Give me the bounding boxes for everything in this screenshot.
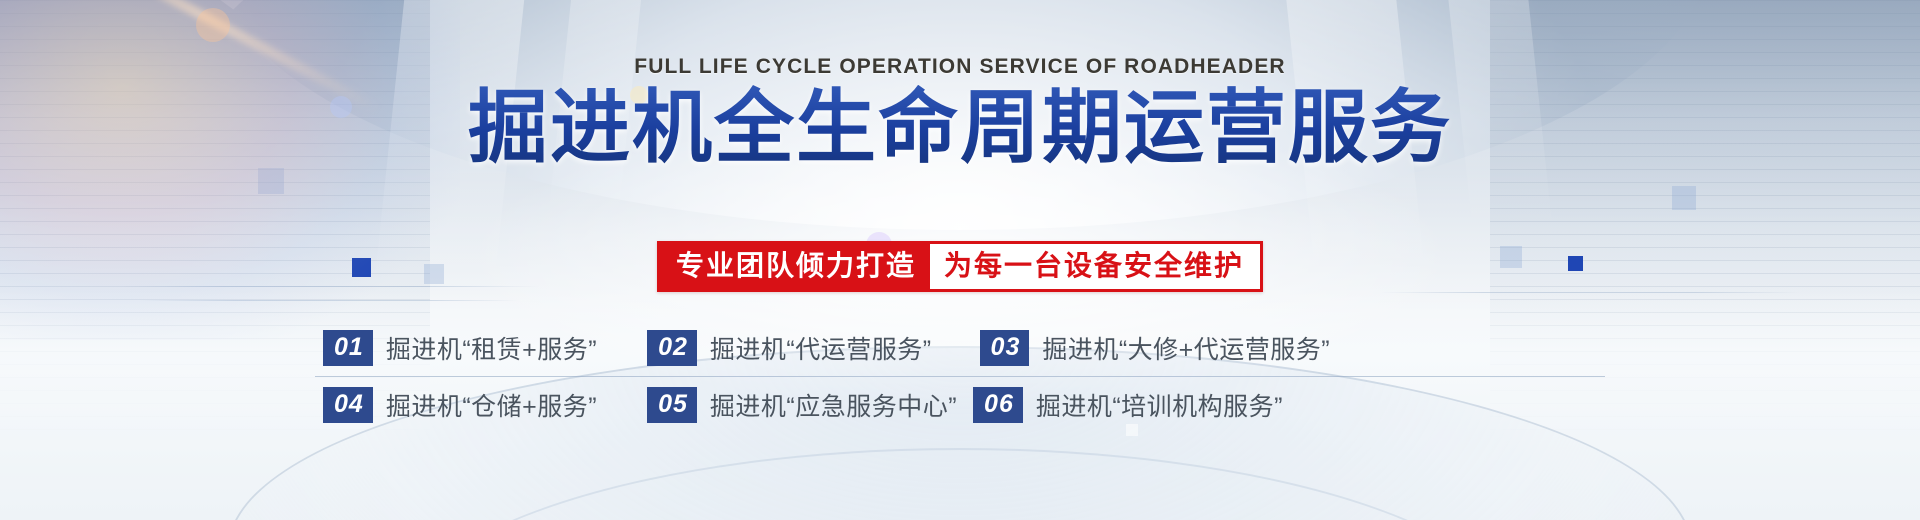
banner-content: FULL LIFE CYCLE OPERATION SERVICE OF ROA…: [0, 0, 1920, 520]
service-number-badge: 02: [647, 330, 697, 366]
service-number-badge: 05: [647, 387, 697, 423]
slogan-bar: 专业团队倾力打造 为每一台设备安全维护: [657, 241, 1263, 292]
service-label: 掘进机“大修+代运营服务”: [1042, 330, 1330, 366]
service-item-03[interactable]: 03 掘进机“大修+代运营服务”: [980, 330, 1331, 366]
service-label: 掘进机“代运营服务”: [710, 330, 932, 366]
service-row-bottom: 04 掘进机“仓储+服务” 05 掘进机“应急服务中心” 06 掘进机“培训机构…: [315, 377, 1605, 433]
banner-headline: 掘进机全生命周期运营服务: [468, 85, 1452, 171]
service-list: 01 掘进机“租赁+服务” 02 掘进机“代运营服务” 03 掘进机“大修+代运…: [315, 320, 1605, 433]
promo-banner: FULL LIFE CYCLE OPERATION SERVICE OF ROA…: [0, 0, 1920, 520]
service-label: 掘进机“仓储+服务”: [386, 387, 597, 423]
service-number-badge: 04: [323, 387, 373, 423]
service-label: 掘进机“租赁+服务”: [386, 330, 597, 366]
service-row-top: 01 掘进机“租赁+服务” 02 掘进机“代运营服务” 03 掘进机“大修+代运…: [315, 320, 1605, 377]
banner-eyebrow-english: FULL LIFE CYCLE OPERATION SERVICE OF ROA…: [634, 55, 1285, 79]
slogan-right-text: 为每一台设备安全维护: [930, 244, 1260, 289]
service-item-01[interactable]: 01 掘进机“租赁+服务”: [323, 330, 597, 366]
service-label: 掘进机“应急服务中心”: [710, 387, 957, 423]
service-number-badge: 01: [323, 330, 373, 366]
service-item-04[interactable]: 04 掘进机“仓储+服务”: [323, 387, 597, 423]
slogan-left-text: 专业团队倾力打造: [660, 244, 930, 289]
service-item-02[interactable]: 02 掘进机“代运营服务”: [647, 330, 931, 366]
service-number-badge: 03: [980, 330, 1030, 366]
service-label: 掘进机“培训机构服务”: [1036, 387, 1283, 423]
service-item-05[interactable]: 05 掘进机“应急服务中心”: [647, 387, 957, 423]
service-number-badge: 06: [973, 387, 1023, 423]
service-item-06[interactable]: 06 掘进机“培训机构服务”: [973, 387, 1283, 423]
